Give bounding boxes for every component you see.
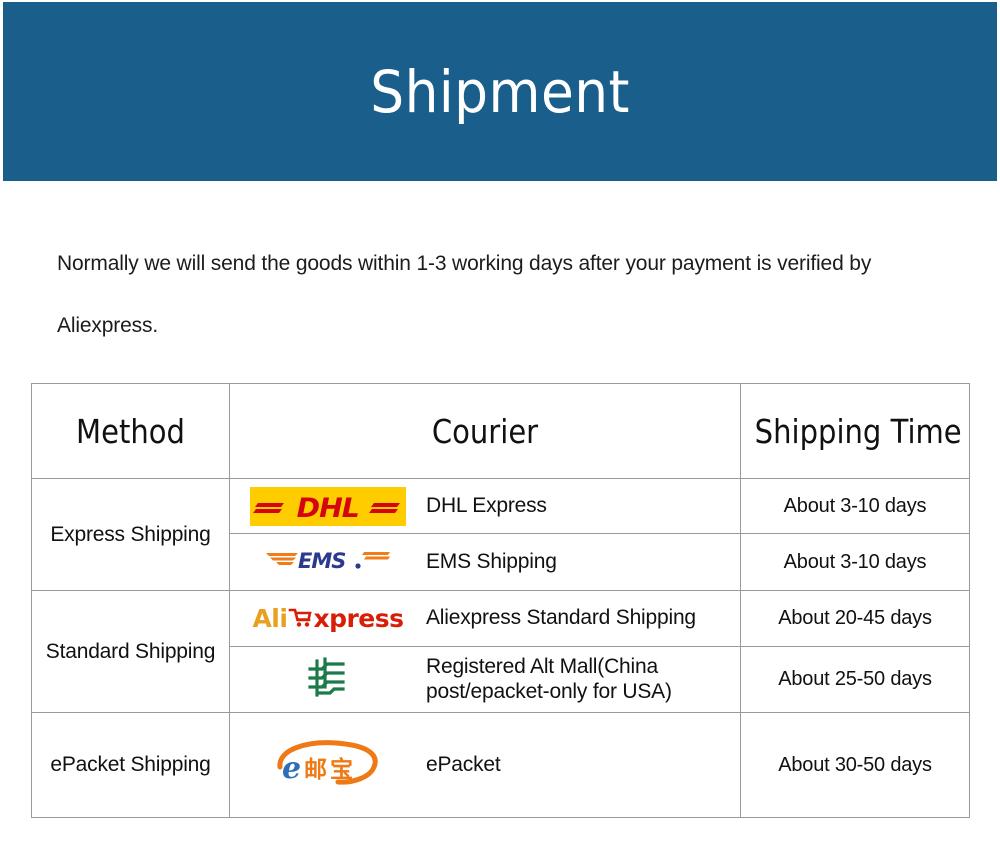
svg-text:e: e <box>282 751 301 786</box>
svg-text:EMS: EMS <box>298 549 345 573</box>
shipping-time-cell: About 25-50 days <box>741 647 970 713</box>
courier-cell-ems: EMS EMS Shipping <box>230 534 741 591</box>
column-header-shipping-time: Shipping Time <box>741 384 970 479</box>
shipping-time-cell: About 3-10 days <box>741 534 970 591</box>
china-post-logo-icon <box>303 653 353 701</box>
page-title: Shipment <box>370 63 630 121</box>
ems-logo: EMS <box>264 545 392 580</box>
shipping-time-cell: About 30-50 days <box>741 713 970 818</box>
table-body: Express Shipping <box>32 479 970 818</box>
ems-logo-box: EMS <box>230 545 426 580</box>
svg-text:DHL: DHL <box>297 491 359 523</box>
svg-text:宝: 宝 <box>330 756 353 783</box>
courier-name: ePacket <box>426 753 500 778</box>
table-row: ePacket Shipping e 邮 宝 <box>32 713 970 818</box>
column-header-shipping-time-label: Shipping Time <box>755 412 956 451</box>
column-header-method: Method <box>32 384 230 479</box>
epacket-logo-box: e 邮 宝 <box>230 737 426 794</box>
method-cell-epacket: ePacket Shipping <box>32 713 230 818</box>
table-header: Method Courier Shipping Time <box>32 384 970 479</box>
china-post-logo-box <box>230 653 426 706</box>
courier-name: Registered Alt Mall(China post/epacket-o… <box>426 655 672 705</box>
aliexpress-logo-box: Ali xpress <box>230 606 426 632</box>
column-header-method-label: Method <box>44 412 217 451</box>
column-header-courier-label: Courier <box>261 412 710 451</box>
dhl-logo-box: DHL <box>230 487 426 526</box>
column-header-courier: Courier <box>230 384 741 479</box>
shipment-page: Shipment Normally we will send the goods… <box>0 0 1000 859</box>
method-cell-standard: Standard Shipping <box>32 591 230 713</box>
epacket-logo: e 邮 宝 <box>268 737 388 794</box>
ems-logo-icon: EMS <box>264 545 392 575</box>
aliexpress-logo-ali-text: Ali <box>252 606 287 631</box>
aliexpress-logo-xpress-text: xpress <box>313 606 403 631</box>
shipping-time-cell: About 20-45 days <box>741 591 970 647</box>
china-post-logo <box>303 653 353 706</box>
aliexpress-logo: Ali xpress <box>252 606 403 632</box>
intro-paragraph: Normally we will send the goods within 1… <box>57 233 957 357</box>
courier-cell-aliexpress: Ali xpress <box>230 591 741 647</box>
courier-name: EMS Shipping <box>426 550 557 575</box>
svg-text:邮: 邮 <box>304 757 327 783</box>
epacket-logo-icon: e 邮 宝 <box>268 737 388 789</box>
courier-cell-dhl: DHL DHL Express <box>230 479 741 534</box>
shopping-cart-icon <box>288 606 312 632</box>
dhl-logo-icon: DHL <box>250 487 406 526</box>
courier-cell-china-post: Registered Alt Mall(China post/epacket-o… <box>230 647 741 713</box>
page-banner: Shipment <box>3 2 997 181</box>
table-header-row: Method Courier Shipping Time <box>32 384 970 479</box>
shipping-time-cell: About 3-10 days <box>741 479 970 534</box>
shipping-table: Method Courier Shipping Time Express Shi… <box>31 383 970 818</box>
method-cell-express: Express Shipping <box>32 479 230 591</box>
courier-cell-epacket: e 邮 宝 ePacket <box>230 713 741 818</box>
table-row: Standard Shipping Ali <box>32 591 970 647</box>
courier-name: DHL Express <box>426 494 547 519</box>
courier-name: Aliexpress Standard Shipping <box>426 606 696 631</box>
table-row: Express Shipping <box>32 479 970 534</box>
dhl-logo: DHL <box>250 487 406 526</box>
